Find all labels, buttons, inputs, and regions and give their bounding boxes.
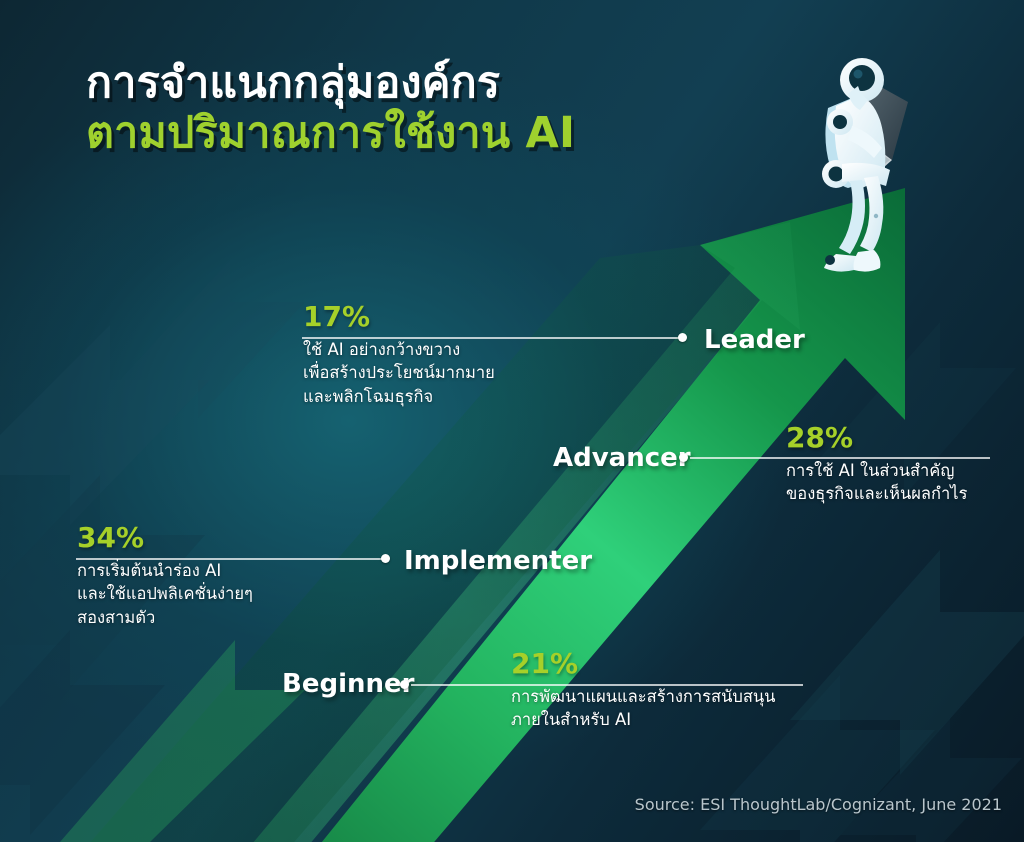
advancer-percent: 28%: [786, 424, 1024, 452]
callout-leader: 17% ใช้ AI อย่างกว้างขวาง เพื่อสร้างประโ…: [303, 303, 703, 408]
callout-advancer: 28% การใช้ AI ในส่วนสำคัญ ของธุรกิจและเห…: [786, 424, 1024, 506]
beginner-desc-line-1: การพัฒนาแผนและสร้างการสนับสนุน: [511, 685, 841, 708]
title-line-1: การจำแนกกลุ่มองค์กร: [86, 62, 575, 106]
source-attribution: Source: ESI ThoughtLab/Cognizant, June 2…: [635, 795, 1002, 814]
beginner-connector-dot: [400, 680, 409, 689]
stage-label-leader: Leader: [704, 325, 805, 355]
implementer-connector-line: [76, 558, 384, 560]
leader-connector-line: [302, 337, 682, 339]
infographic-canvas: การจำแนกกลุ่มองค์กร ตามปริมาณการใช้งาน A…: [0, 0, 1024, 842]
callout-beginner: 21% การพัฒนาแผนและสร้างการสนับสนุน ภายใน…: [511, 650, 841, 732]
robot-with-laptop-icon: [800, 48, 940, 288]
leader-desc-line-3: และพลิกโฉมธุรกิจ: [303, 385, 703, 408]
title-line-2: ตามปริมาณการใช้งาน AI: [86, 112, 575, 156]
implementer-connector-dot: [381, 554, 390, 563]
implementer-desc-line-3: สองสามตัว: [77, 606, 417, 629]
implementer-description: การเริ่มต้นนำร่อง AI และใช้แอปพลิเคชั่นง…: [77, 559, 417, 629]
leader-desc-line-1: ใช้ AI อย่างกว้างขวาง: [303, 338, 703, 361]
leader-desc-line-2: เพื่อสร้างประโยชน์มากมาย: [303, 361, 703, 384]
stage-label-advancer: Advancer: [553, 443, 691, 473]
leader-percent: 17%: [303, 303, 703, 331]
implementer-desc-line-1: การเริ่มต้นนำร่อง AI: [77, 559, 417, 582]
implementer-percent: 34%: [77, 524, 417, 552]
callout-implementer: 34% การเริ่มต้นนำร่อง AI และใช้แอปพลิเคช…: [77, 524, 417, 629]
stage-label-beginner: Beginner: [282, 669, 414, 699]
implementer-desc-line-2: และใช้แอปพลิเคชั่นง่ายๆ: [77, 582, 417, 605]
advancer-description: การใช้ AI ในส่วนสำคัญ ของธุรกิจและเห็นผล…: [786, 459, 1024, 506]
beginner-description: การพัฒนาแผนและสร้างการสนับสนุน ภายในสำหร…: [511, 685, 841, 732]
stage-label-implementer: Implementer: [404, 546, 592, 576]
leader-description: ใช้ AI อย่างกว้างขวาง เพื่อสร้างประโยชน์…: [303, 338, 703, 408]
leader-connector-dot: [678, 333, 687, 342]
beginner-percent: 21%: [511, 650, 841, 678]
advancer-desc-line-2: ของธุรกิจและเห็นผลกำไร: [786, 482, 1024, 505]
advancer-connector-dot: [679, 453, 688, 462]
beginner-desc-line-2: ภายในสำหรับ AI: [511, 708, 841, 731]
page-title: การจำแนกกลุ่มองค์กร ตามปริมาณการใช้งาน A…: [86, 62, 575, 156]
advancer-desc-line-1: การใช้ AI ในส่วนสำคัญ: [786, 459, 1024, 482]
